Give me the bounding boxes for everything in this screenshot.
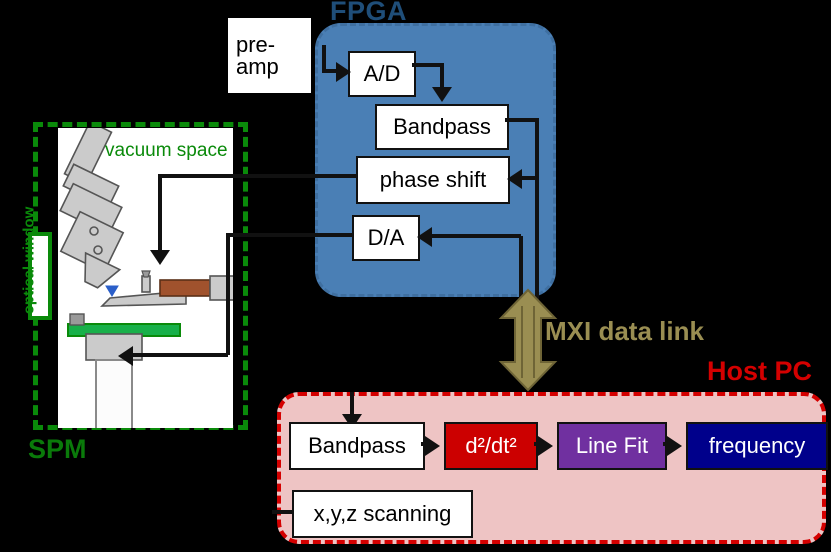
preamp-label-line1: pre- [236, 34, 275, 56]
arrow-linefit-to-frequency [667, 436, 682, 456]
hostpc-block-frequency-label: frequency [709, 435, 806, 457]
arrow-derivative-to-linefit [538, 436, 553, 456]
arrow-preamp-to-ad [336, 62, 351, 82]
wire-derivative-to-linefit [534, 442, 542, 446]
hostpc-block-frequency[interactable]: frequency [686, 422, 828, 470]
fpga-block-bandpass[interactable]: Bandpass [375, 104, 509, 150]
hostpc-block-scanning-label: x,y,z scanning [314, 503, 452, 525]
wire-da-to-spm-horizontal-bottom [133, 353, 228, 357]
fpga-block-phase-shift[interactable]: phase shift [356, 156, 510, 204]
fpga-block-phase-shift-label: phase shift [380, 169, 486, 191]
arrow-into-da [417, 227, 432, 247]
fpga-block-da[interactable]: D/A [352, 215, 420, 261]
preamp-box: pre- amp [228, 18, 311, 93]
wire-scanning-out-left [272, 510, 294, 514]
arrow-ad-to-bandpass [432, 87, 452, 102]
fpga-block-bandpass-label: Bandpass [393, 116, 491, 138]
wire-phaseshift-to-spm-horizontal [158, 174, 358, 178]
hostpc-block-scanning[interactable]: x,y,z scanning [292, 490, 473, 538]
arrow-da-into-scanner [118, 346, 133, 366]
wire-bandpass-out-horizontal [505, 118, 539, 122]
hostpc-block-derivative-label: d²/dt² [465, 435, 516, 457]
hostpc-block-linefit-label: Line Fit [576, 435, 648, 457]
wire-da-to-spm-horizontal-top [226, 233, 354, 237]
mxi-data-link-label: MXI data link [545, 316, 704, 347]
hostpc-block-bandpass-label: Bandpass [308, 435, 406, 457]
fpga-block-ad[interactable]: A/D [348, 51, 416, 97]
wire-mxi-to-da-horizontal [432, 234, 521, 238]
spm-label: SPM [28, 434, 87, 465]
arrow-bandpass-to-derivative [425, 436, 440, 456]
wire-bandpass-to-derivative [421, 442, 429, 446]
arrow-phaseshift-into-sample [150, 250, 170, 265]
wire-mxi-into-hostpc-bandpass [350, 392, 354, 416]
vacuum-space-label: vacuum space [105, 140, 228, 162]
arrow-into-phase-shift [507, 169, 522, 189]
wire-phaseshift-drop-vertical [158, 174, 162, 252]
hostpc-block-bandpass[interactable]: Bandpass [289, 422, 425, 470]
spm-apparatus-drawing [58, 128, 233, 428]
spm-illustration-panel [58, 128, 233, 428]
host-pc-label: Host PC [707, 356, 812, 387]
hostpc-block-linefit[interactable]: Line Fit [557, 422, 667, 470]
wire-bandpass-bus-to-mxi [535, 176, 539, 300]
hostpc-block-derivative[interactable]: d²/dt² [444, 422, 538, 470]
diagram-canvas: FPGA [0, 0, 831, 552]
wire-bandpass-bus-vertical [535, 118, 539, 178]
fpga-block-da-label: D/A [368, 227, 405, 249]
optical-window-label: optical window [21, 206, 38, 316]
preamp-label-line2: amp [236, 56, 279, 78]
wire-linefit-to-frequency [663, 442, 671, 446]
wire-da-to-spm-vertical [226, 233, 230, 355]
fpga-label: FPGA [330, 0, 407, 27]
wire-preamp-to-ad-vertical [322, 45, 326, 71]
fpga-block-ad-label: A/D [364, 63, 401, 85]
wire-ad-to-bandpass-vertical [440, 63, 444, 87]
